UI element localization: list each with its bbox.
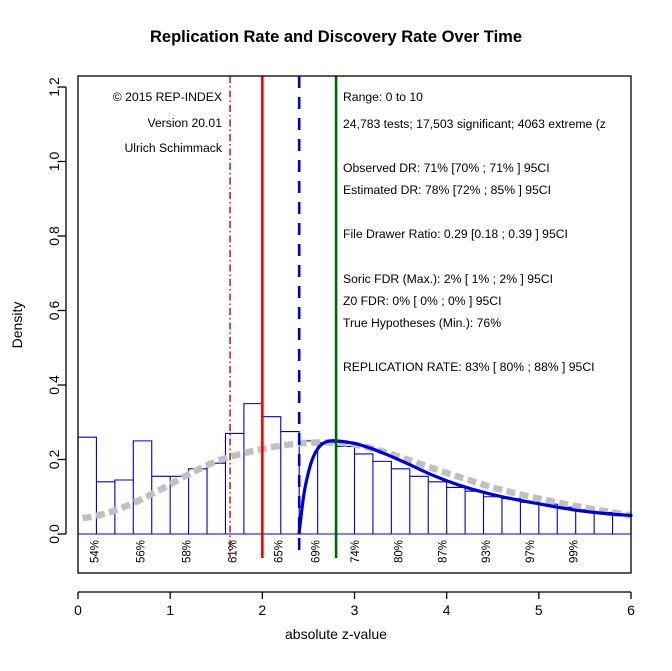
y-tick-label: 0.8 bbox=[46, 226, 62, 246]
stat-file-drawer: File Drawer Ratio: 0.29 [0.18 ; 0.39 ] 9… bbox=[343, 227, 568, 241]
chart-figure: Replication Rate and Discovery Rate Over… bbox=[0, 0, 672, 671]
credits-block: © 2015 REP-INDEX Version 20.01 Ulrich Sc… bbox=[113, 90, 223, 155]
x-axis: 0123456 bbox=[74, 592, 635, 618]
threshold-lines bbox=[230, 76, 336, 558]
percent-label: 56% bbox=[135, 540, 147, 563]
percent-label: 99% bbox=[569, 540, 581, 563]
y-tick-label: 1.0 bbox=[46, 152, 62, 172]
stats-block: Range: 0 to 10 24,783 tests; 17,503 sign… bbox=[343, 90, 606, 374]
x-tick-label: 2 bbox=[258, 602, 266, 618]
x-tick-label: 5 bbox=[535, 602, 543, 618]
x-tick-label: 6 bbox=[627, 602, 635, 618]
percent-label: 80% bbox=[393, 540, 405, 563]
y-tick-label: 1.2 bbox=[46, 77, 62, 97]
percent-label: 87% bbox=[438, 540, 450, 563]
percent-label: 93% bbox=[481, 540, 493, 563]
x-tick-label: 1 bbox=[166, 602, 174, 618]
percent-label: 74% bbox=[350, 540, 362, 563]
stat-z0-fdr: Z0 FDR: 0% [ 0% ; 0% ] 95CI bbox=[343, 294, 502, 308]
stat-counts: 24,783 tests; 17,503 significant; 4063 e… bbox=[343, 117, 606, 131]
plot-canvas: 54%56%58%61%65%69%74%80%87%93%97%99% 012… bbox=[0, 0, 672, 671]
y-axis: 0.00.20.40.60.81.01.2 bbox=[46, 77, 66, 544]
stat-soric-fdr: Soric FDR (Max.): 2% [ 1% ; 2% ] 95CI bbox=[343, 272, 553, 286]
percent-label: 54% bbox=[89, 540, 101, 563]
x-tick-label: 0 bbox=[74, 602, 82, 618]
percent-label: 97% bbox=[525, 540, 537, 563]
credits-line-3: Ulrich Schimmack bbox=[124, 141, 222, 155]
stat-range: Range: 0 to 10 bbox=[343, 90, 423, 104]
y-tick-label: 0.6 bbox=[46, 301, 62, 321]
stat-observed-dr: Observed DR: 71% [70% ; 71% ] 95CI bbox=[343, 161, 550, 175]
y-tick-label: 0.2 bbox=[46, 450, 62, 470]
stat-estimated-dr: Estimated DR: 78% [72% ; 85% ] 95CI bbox=[343, 183, 551, 197]
y-tick-label: 0.4 bbox=[46, 375, 62, 395]
x-axis-title: absolute z-value bbox=[285, 626, 387, 642]
histogram-bars bbox=[78, 404, 631, 534]
stat-replication-rate: REPLICATION RATE: 83% [ 80% ; 88% ] 95CI bbox=[343, 360, 595, 374]
credits-line-1: © 2015 REP-INDEX bbox=[113, 90, 222, 104]
x-tick-label: 4 bbox=[443, 602, 451, 618]
x-tick-label: 3 bbox=[351, 602, 359, 618]
stat-true-hypotheses: True Hypotheses (Min.): 76% bbox=[343, 316, 501, 330]
percent-label: 65% bbox=[274, 540, 286, 563]
percent-label: 58% bbox=[181, 540, 193, 563]
y-axis-title: Density bbox=[9, 302, 25, 349]
y-tick-label: 0.0 bbox=[46, 524, 62, 544]
credits-line-2: Version 20.01 bbox=[147, 116, 222, 130]
percent-label: 69% bbox=[310, 540, 322, 563]
percent-label: 61% bbox=[228, 540, 240, 563]
